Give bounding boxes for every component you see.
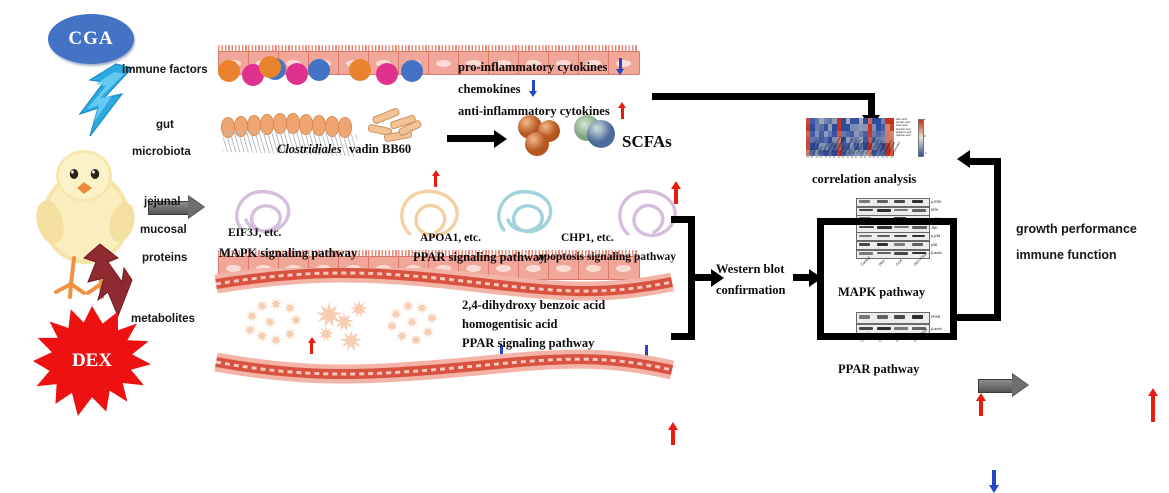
mapk-blot-panel: p-ERKERKp-JNKJNKp-p38p38β-actin: [856, 198, 952, 260]
scfa-label: SCFAs: [622, 132, 672, 152]
protein-gene-0: EIF3J, etc.: [228, 227, 281, 239]
blot-band: [859, 315, 870, 319]
outcome-line-1: immune function: [1016, 248, 1117, 262]
blot-band: [894, 252, 908, 255]
protein-gene-2: CHP1, etc.: [561, 232, 614, 244]
blot-band: [894, 315, 905, 319]
cytokine-label-1: chemokines: [458, 82, 521, 96]
protein-pathway-0: MAPK signaling pathway: [219, 246, 357, 261]
blot-target-label: ERK: [931, 208, 938, 212]
blot-target-label: p38: [931, 243, 937, 247]
immune-factor-dot: [401, 60, 423, 82]
metabolite-particle: [350, 300, 368, 318]
immune-factor-dot: [259, 56, 281, 78]
heatmap-row-labels: citric acidfumaric acidlactic acidbenzoi…: [896, 118, 911, 137]
immune-factor-dot: [349, 59, 371, 81]
metabolite-particle: [340, 330, 362, 352]
metabolite-particle: [264, 316, 276, 328]
mapk-lane-labels: ControlDEXCGADEX+CGA: [858, 262, 954, 280]
protein-pathway-1: PPAR signaling pathway: [413, 250, 545, 265]
metabolite-particle: [290, 314, 302, 326]
blot-band: [912, 226, 927, 229]
blot-band: [912, 209, 926, 212]
mapk-up-arrow-icon: [976, 393, 985, 416]
down-arrow-icon: [617, 58, 624, 75]
ppar-down-arrow-icon: [989, 470, 998, 493]
metabolite-particle: [426, 312, 438, 324]
blot-target-label: JNK: [931, 226, 938, 230]
cga-node: CGA: [48, 14, 134, 64]
row-label-jejunal: jejunal: [144, 196, 180, 208]
protein-pathway-2: apoptosis signaling pathway: [538, 251, 676, 263]
heatmap-row-label: palmitic acid: [896, 134, 911, 137]
outcome-line-0: growth performance: [1016, 222, 1137, 236]
blot-band: [912, 200, 923, 202]
blots-box-left: [817, 218, 824, 340]
metabolite-particle: [256, 300, 268, 312]
correlation-heatmap: citric acidfumaric acidlactic acidbenzoi…: [806, 118, 914, 160]
blot-band: [859, 243, 870, 245]
blot-band: [877, 209, 891, 212]
immune-factor-dot: [218, 60, 240, 82]
scfa-molecule-icon: [512, 113, 568, 159]
taxon-name-rest: vadin BB60: [349, 142, 411, 157]
blot-target-label: β-actin: [931, 327, 942, 331]
blot-band: [894, 243, 905, 245]
cytokine-label-0: pro-inflammatory cytokines: [458, 60, 607, 74]
metabolite-particle: [244, 324, 256, 336]
western-blot-step-line2: confirmation: [716, 283, 785, 298]
blot-band: [859, 327, 873, 330]
metabolite-particle: [256, 330, 268, 342]
western-blot-step-line1: Western blot: [716, 262, 784, 277]
blot-band: [877, 315, 888, 318]
blot-band: [859, 252, 873, 255]
metabolite-particle: [270, 298, 282, 310]
colorbar-tick: 1: [924, 117, 926, 121]
metabolite-line-1: homogentisic acid: [462, 317, 557, 332]
metabolite-particle: [410, 334, 422, 346]
row-label-proteins: proteins: [142, 252, 187, 264]
blot-target-label: p-p38: [931, 234, 940, 238]
omics-bracket: [671, 216, 695, 340]
blot-band: [877, 200, 888, 202]
immune-factor-dot: [376, 63, 398, 85]
blot-band: [877, 327, 891, 331]
colorbar-tick: -1: [924, 151, 927, 155]
taxon-name-italic: Clostridiales: [277, 142, 342, 157]
blots-box-bottom: [817, 333, 957, 340]
row-label-immune-factors: immune factors: [122, 64, 208, 76]
metabolite-particle: [318, 326, 334, 342]
metabolite-particle: [402, 300, 414, 312]
ppar-caption: PPAR pathway: [838, 362, 919, 377]
clostridiales-up-arrow-icon: [432, 170, 439, 187]
metabolite-particle: [284, 328, 296, 340]
immune-factor-dot: [286, 63, 308, 85]
blot-target-label: PPAR: [931, 315, 941, 319]
down-arrow-icon: [530, 80, 537, 97]
blot-band: [877, 226, 892, 229]
blot-band: [877, 243, 888, 246]
cga-label: CGA: [68, 28, 113, 50]
blots-box-top: [817, 218, 957, 225]
blot-band: [877, 235, 890, 237]
blots-to-correlation-arrow: [955, 150, 1001, 320]
metabolite-particle: [422, 326, 434, 338]
dex-label: DEX: [72, 350, 112, 372]
outcome-up-arrow-icon: [1148, 388, 1157, 422]
metabolite-particle: [270, 334, 282, 346]
metabolite-particle: [406, 316, 418, 328]
blot-band: [894, 235, 907, 238]
metabolite-line-0: 2,4-dihydroxy benzoic acid: [462, 298, 605, 313]
cytokine-item-0: pro-inflammatory cytokines: [458, 58, 624, 75]
correlation-caption: correlation analysis: [812, 172, 916, 187]
metabolite-particle: [390, 308, 402, 320]
clostridiales-rods: [368, 110, 428, 144]
metabolite-up-arrow-icon: [668, 422, 677, 445]
metabolite-line-2: PPAR signaling pathway: [462, 336, 594, 351]
outcome-arrow: [978, 374, 1030, 396]
blot-band: [859, 209, 873, 211]
row-label-microbiota: microbiota: [132, 146, 191, 158]
colorbar-tick: 0: [924, 134, 926, 138]
ppar-lane-labels: ControlDEXCGADEX+CGA: [858, 338, 954, 356]
row-label-gut: gut: [156, 119, 174, 131]
blot-band: [859, 200, 870, 203]
dex-to-chick-arrow: [74, 242, 138, 324]
immune-factor-dot: [308, 59, 330, 81]
row-label-metabolites: metabolites: [131, 313, 195, 325]
protein-gene-1: APOA1, etc.: [420, 232, 481, 244]
blot-band: [894, 327, 908, 330]
mapk-caption: MAPK pathway: [838, 285, 925, 300]
blot-target-label: p-ERK: [931, 200, 942, 204]
cytokine-item-1: chemokines: [458, 80, 537, 97]
blot-band: [912, 243, 923, 246]
metabolite-particle: [386, 320, 398, 332]
blot-band: [859, 235, 872, 238]
blot-band: [894, 200, 905, 203]
metabolite-particles: [240, 296, 460, 360]
microbiota-to-scfa-arrow: [447, 130, 509, 148]
scfa-molecule-icon-2: [572, 112, 620, 156]
blots-box-right: [950, 218, 957, 340]
blot-band: [894, 209, 908, 211]
metabolite-particle: [284, 302, 296, 314]
immune-factor-dots: [218, 56, 448, 88]
row-label-mucosal: mucosal: [140, 224, 187, 236]
blot-band: [912, 235, 925, 237]
blot-target-label: β-actin: [931, 251, 942, 255]
blot-band: [877, 252, 891, 254]
blot-band: [912, 315, 923, 318]
